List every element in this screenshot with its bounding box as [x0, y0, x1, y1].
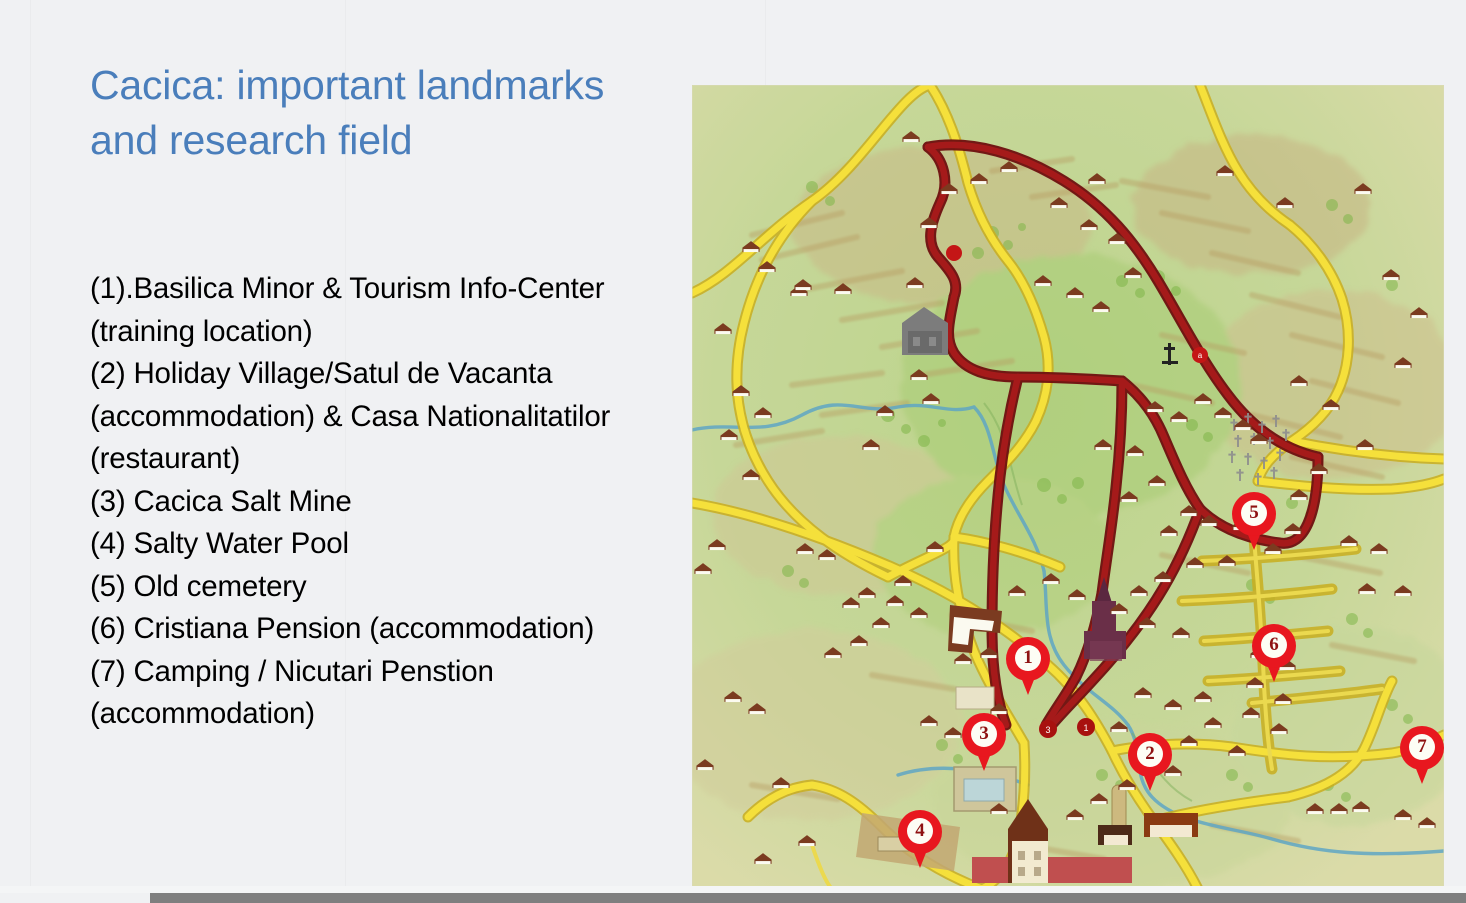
list-item: (restaurant) — [90, 438, 690, 481]
map-marker-1[interactable]: 1 — [1006, 637, 1050, 695]
horizontal-scrollbar[interactable] — [150, 893, 1466, 903]
list-item: (2) Holiday Village/Satul de Vacanta — [90, 353, 690, 396]
svg-text:a: a — [1198, 351, 1203, 360]
list-item: (3) Cacica Salt Mine — [90, 481, 690, 524]
list-item: (accommodation) — [90, 693, 690, 736]
map-marker-6[interactable]: 6 — [1252, 624, 1296, 682]
page-title: Cacica: important landmarks and research… — [90, 58, 680, 168]
svg-text:3: 3 — [1045, 725, 1050, 735]
marker-number: 4 — [907, 818, 933, 844]
landmark-list: (1).Basilica Minor & Tourism Info-Center… — [90, 268, 690, 736]
marker-number: 7 — [1409, 734, 1435, 760]
list-item: (6) Cristiana Pension (accommodation) — [90, 608, 690, 651]
list-item: (5) Old cemetery — [90, 566, 690, 609]
marker-number: 6 — [1261, 632, 1287, 658]
list-item: (accommodation) & Casa Nationalitatilor — [90, 396, 690, 439]
marker-number: 2 — [1137, 741, 1163, 767]
background-seam — [30, 0, 31, 886]
map-marker-2[interactable]: 2 — [1128, 733, 1172, 791]
list-item: (training location) — [90, 311, 690, 354]
list-item: (4) Salty Water Pool — [90, 523, 690, 566]
marker-number: 3 — [971, 721, 997, 747]
marker-number: 5 — [1241, 500, 1267, 526]
map-image[interactable]: 3 1 a — [692, 85, 1444, 889]
map-marker-3[interactable]: 3 — [962, 713, 1006, 771]
bottom-gap — [0, 886, 1466, 893]
list-item: (1).Basilica Minor & Tourism Info-Center — [90, 268, 690, 311]
title-line-1: Cacica: important landmarks — [90, 58, 680, 113]
marker-number: 1 — [1015, 645, 1041, 671]
slide-canvas: Cacica: important landmarks and research… — [0, 0, 1466, 903]
list-item: (7) Camping / Nicutari Penstion — [90, 651, 690, 694]
map-marker-7[interactable]: 7 — [1400, 726, 1444, 784]
map-marker-5[interactable]: 5 — [1232, 492, 1276, 550]
map-canvas: 3 1 a — [692, 85, 1444, 889]
map-marker-4[interactable]: 4 — [898, 810, 942, 868]
svg-text:1: 1 — [1083, 723, 1088, 733]
title-line-2: and research field — [90, 113, 680, 168]
